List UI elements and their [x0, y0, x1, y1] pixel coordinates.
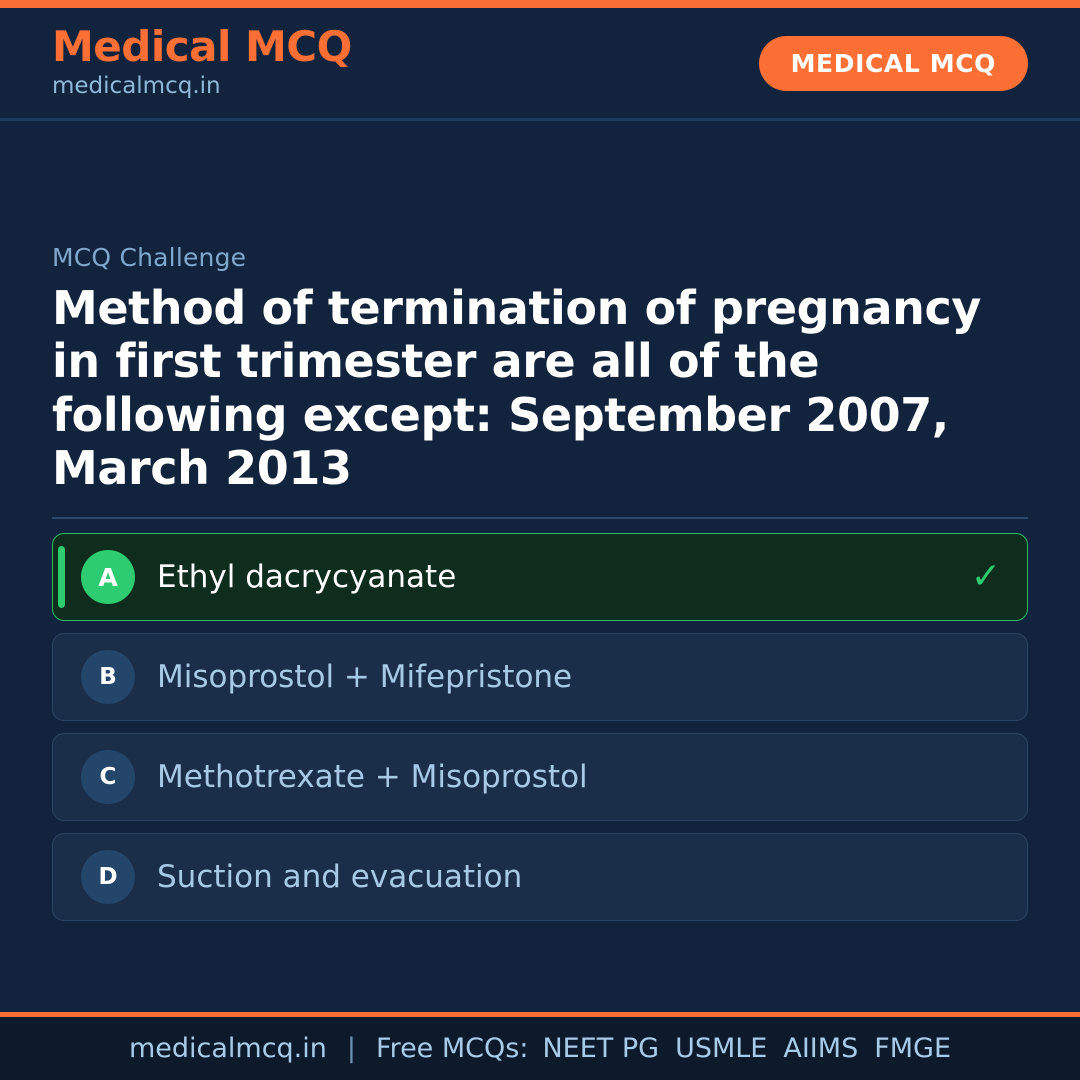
option-d-badge: D [81, 850, 135, 904]
footer-exam-fmge[interactable]: FMGE [874, 1033, 951, 1064]
option-c-text: Methotrexate + Misoprostol [157, 758, 955, 797]
brand-domain: medicalmcq.in [52, 72, 352, 101]
page-header: Medical MCQ medicalmcq.in MEDICAL MCQ [0, 8, 1080, 121]
options-list: A Ethyl dacrycyanate ✓ B Misoprostol + M… [52, 533, 1028, 921]
footer-exam-aiims[interactable]: AIIMS [783, 1033, 858, 1064]
top-accent-bar [0, 0, 1080, 8]
option-b-badge: B [81, 650, 135, 704]
footer-exam-usmle[interactable]: USMLE [675, 1033, 767, 1064]
brand-title: Medical MCQ [52, 25, 352, 70]
bottom-spacer [52, 921, 1028, 1012]
footer-site[interactable]: medicalmcq.in [129, 1033, 327, 1064]
footer-free-label: Free MCQs: [376, 1033, 528, 1064]
option-c-badge: C [81, 750, 135, 804]
footer-separator: | [341, 1033, 362, 1064]
brand: Medical MCQ medicalmcq.in [52, 25, 352, 100]
main-content: MCQ Challenge Method of termination of p… [0, 121, 1080, 1012]
footer-exam-tags: NEET PG USMLE AIIMS FMGE [542, 1033, 951, 1064]
page-footer: medicalmcq.in | Free MCQs: NEET PG USMLE… [0, 1012, 1080, 1080]
option-c[interactable]: C Methotrexate + Misoprostol ✓ [52, 733, 1028, 821]
footer-content: medicalmcq.in | Free MCQs: NEET PG USMLE… [129, 1033, 951, 1064]
option-b-text: Misoprostol + Mifepristone [157, 658, 955, 697]
option-a-text: Ethyl dacrycyanate [157, 558, 955, 597]
option-d-text: Suction and evacuation [157, 858, 955, 897]
option-b[interactable]: B Misoprostol + Mifepristone ✓ [52, 633, 1028, 721]
header-badge: MEDICAL MCQ [759, 36, 1028, 91]
question-divider [52, 517, 1028, 519]
check-icon: ✓ [971, 559, 1001, 595]
footer-exam-neet-pg[interactable]: NEET PG [542, 1033, 659, 1064]
option-a-badge: A [81, 550, 135, 604]
option-a[interactable]: A Ethyl dacrycyanate ✓ [52, 533, 1028, 621]
question-text: Method of termination of pregnancy in fi… [52, 282, 982, 495]
correct-accent-bar [58, 546, 65, 608]
eyebrow-label: MCQ Challenge [52, 243, 1028, 272]
option-d[interactable]: D Suction and evacuation ✓ [52, 833, 1028, 921]
